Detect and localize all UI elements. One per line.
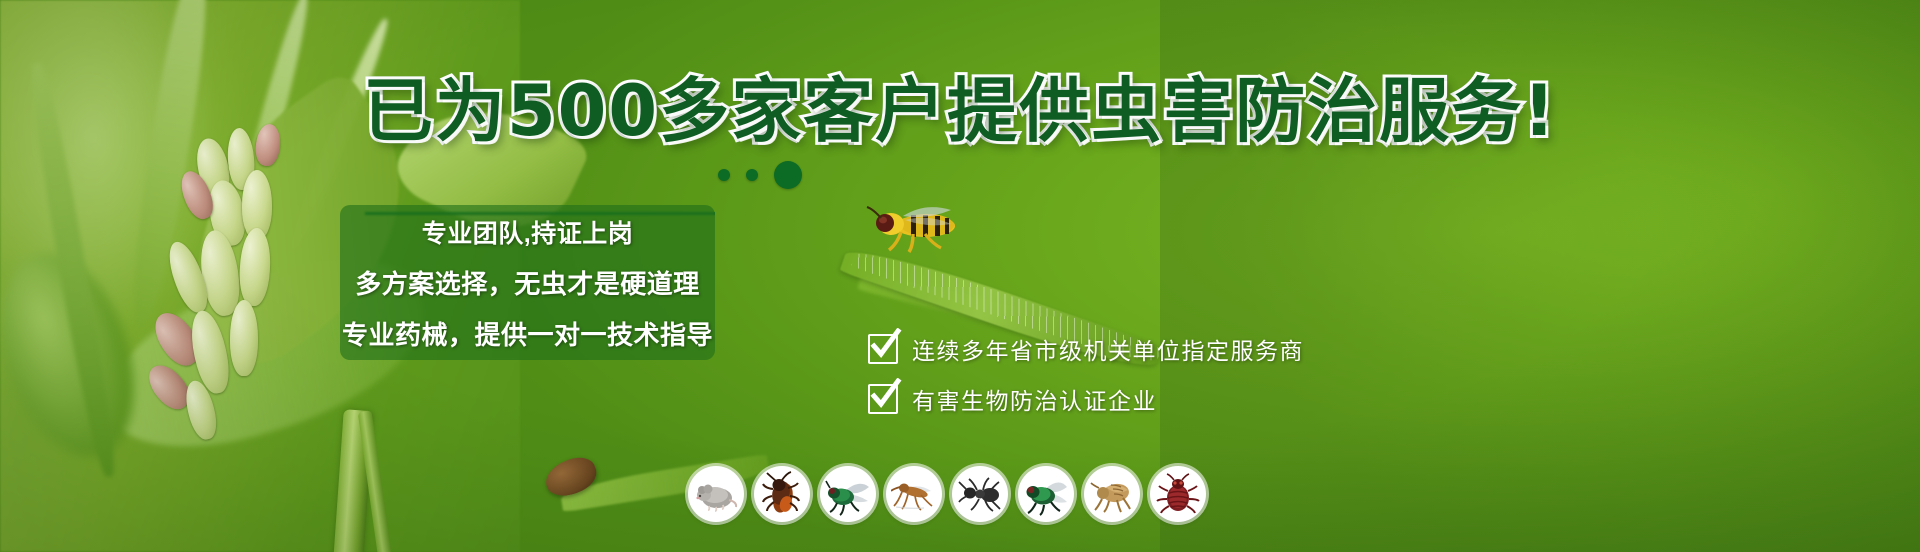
pest-icon-row [688,466,1206,522]
decorative-dots [718,160,838,190]
credential-label: 有害生物防治认证企业 [912,382,1157,416]
checkbox-checked-icon [868,384,898,414]
feature-line-2: 多方案选择，无虫才是硬道理 [355,264,700,301]
cockroach-icon [754,466,810,522]
dot-large-icon [774,161,802,189]
promo-banner: 已为500多家客户提供虫害防治服务! 专业团队,持证上岗 多方案选择，无虫才是硬… [0,0,1920,552]
list-item: 连续多年省市级机关单位指定服务商 [868,332,1568,366]
checkbox-checked-icon [868,334,898,364]
hoverfly-image [845,198,965,260]
ant-icon [952,466,1008,522]
bedbug-icon [1150,466,1206,522]
mouse-icon [688,466,744,522]
headline-text: 已为500多家客户提供虫害防治服务! [363,70,1557,152]
page-title: 已为500多家客户提供虫害防治服务! [0,72,1920,150]
flea-icon [1084,466,1140,522]
feature-panel: 专业团队,持证上岗 多方案选择，无虫才是硬道理 专业药械，提供一对一技术指导 [340,205,715,360]
dot-small-icon [718,169,730,181]
credential-label: 连续多年省市级机关单位指定服务商 [912,332,1304,366]
list-item: 有害生物防治认证企业 [868,382,1568,416]
greenbottle-fly-icon [1018,466,1074,522]
dot-small-icon [746,169,758,181]
housefly-icon [820,466,876,522]
feature-line-1: 专业团队,持证上岗 [422,214,633,250]
credential-list: 连续多年省市级机关单位指定服务商 有害生物防治认证企业 [868,332,1568,416]
mosquito-icon [886,466,942,522]
feature-line-3: 专业药械，提供一对一技术指导 [342,315,713,352]
